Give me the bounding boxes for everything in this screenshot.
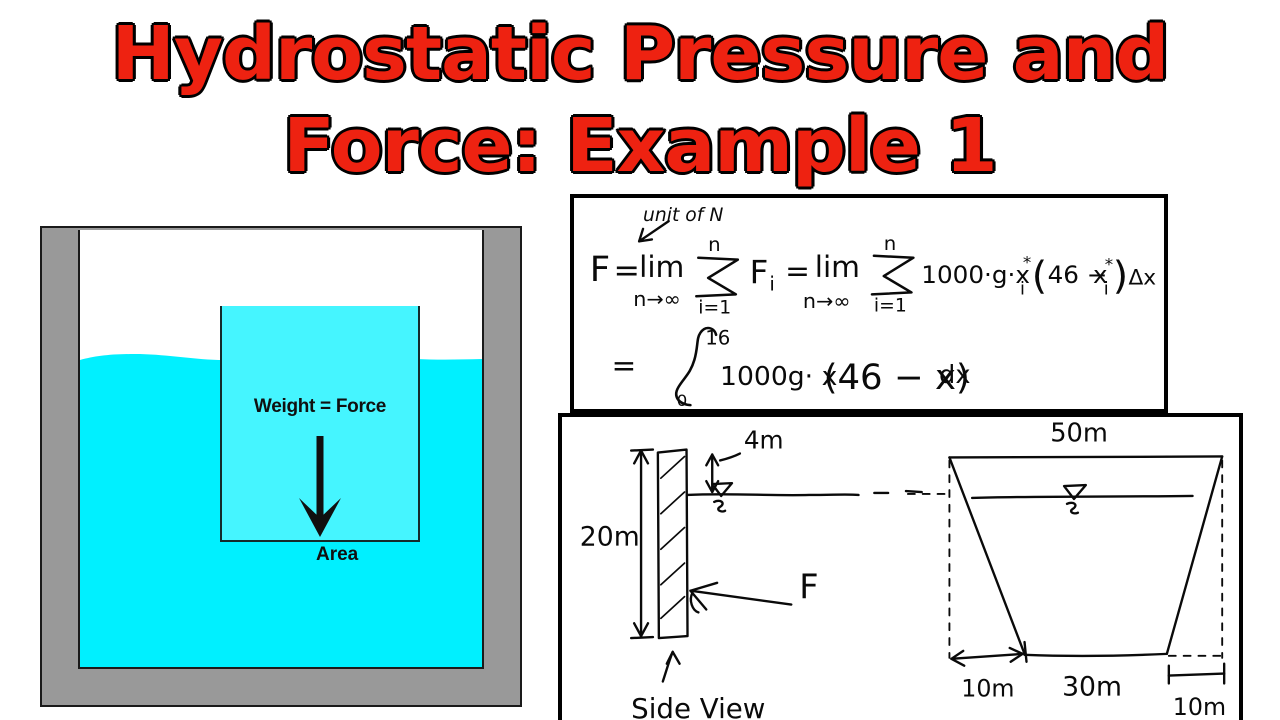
sigma2-bottom: i=1 [874,296,907,317]
formula-Fi: F [750,253,769,291]
formula-lim1: lim [639,250,684,284]
handwritten-formula: unit of N F = lim n→∞ n i=1 F i = lim n→… [574,198,1164,409]
weight-force-label: Weight = Force [222,396,418,418]
dam-wall [658,450,688,639]
formula-Fi-sub: i [769,273,774,296]
tank-figure: Weight = Force Area [40,226,522,707]
formula-sub1: i [1020,280,1025,300]
formula-sub2: i [1104,280,1109,300]
formula-star1: * [1023,253,1031,272]
title-line-1: Hydrostatic Pressure and [0,0,1280,100]
formula-lim2-sub: n→∞ [803,289,851,313]
formula-F: F [590,249,610,290]
weight-arrow-icon [295,436,345,540]
water-level-symbol-front [1064,485,1086,513]
formula-paren-close: ) [1113,254,1128,298]
sigma2-glyph [872,256,913,295]
depth-dimension-4m [706,454,740,492]
label-30m: 30m [1062,671,1122,702]
label-10m-left: 10m [961,674,1014,702]
slide-canvas: Hydrostatic Pressure and Force: Example … [0,0,1280,720]
sigma1-top: n [708,233,721,256]
formula2-dx: dx [939,359,970,389]
left-offset-dimension [951,642,1026,666]
label-F: F [799,568,818,607]
right-offset-dimension [1169,664,1224,684]
integral-lower: 0 [677,391,688,409]
formula-panel: unit of N F = lim n→∞ n i=1 F i = lim n→… [570,194,1168,413]
formula-expr: 1000·g·x [921,260,1030,289]
diagram-panel: 20m 4m F Side View 50m 30m 10m 10m [558,413,1243,720]
formula-paren-open: ( [1032,254,1047,298]
integral-upper: 16 [705,327,730,350]
title-line-2: Force: Example 1 [0,100,1280,192]
water-column: Weight = Force [220,306,420,542]
label-50m: 50m [1050,419,1108,449]
label-20m: 20m [580,521,640,552]
sigma1-glyph [696,258,737,297]
slide-title: Hydrostatic Pressure and Force: Example … [0,0,1280,190]
unit-annotation: unit of N [643,205,723,226]
front-water-line [972,496,1192,498]
label-10m-right: 10m [1173,693,1226,720]
formula-lim1-sub: n→∞ [633,287,681,311]
formula-eq1: = [613,253,639,289]
formula-lim2: lim [815,250,860,284]
sigma2-top: n [884,232,897,255]
handwritten-diagram: 20m 4m F Side View 50m 30m 10m 10m [562,417,1239,720]
side-view-pointer-arrow [663,652,680,682]
sigma1-bottom: i=1 [698,298,731,319]
label-4m: 4m [744,426,784,455]
label-side-view: Side View [631,692,765,720]
formula-dx: Δx [1128,266,1156,291]
force-arrow-F [690,583,791,613]
formula-eq2: = [785,254,810,288]
tank-interior: Weight = Force Area [78,230,484,669]
area-label: Area [316,544,358,566]
formula2-eq: = [611,349,636,383]
formula2-integrand: 1000g· x [720,362,837,392]
